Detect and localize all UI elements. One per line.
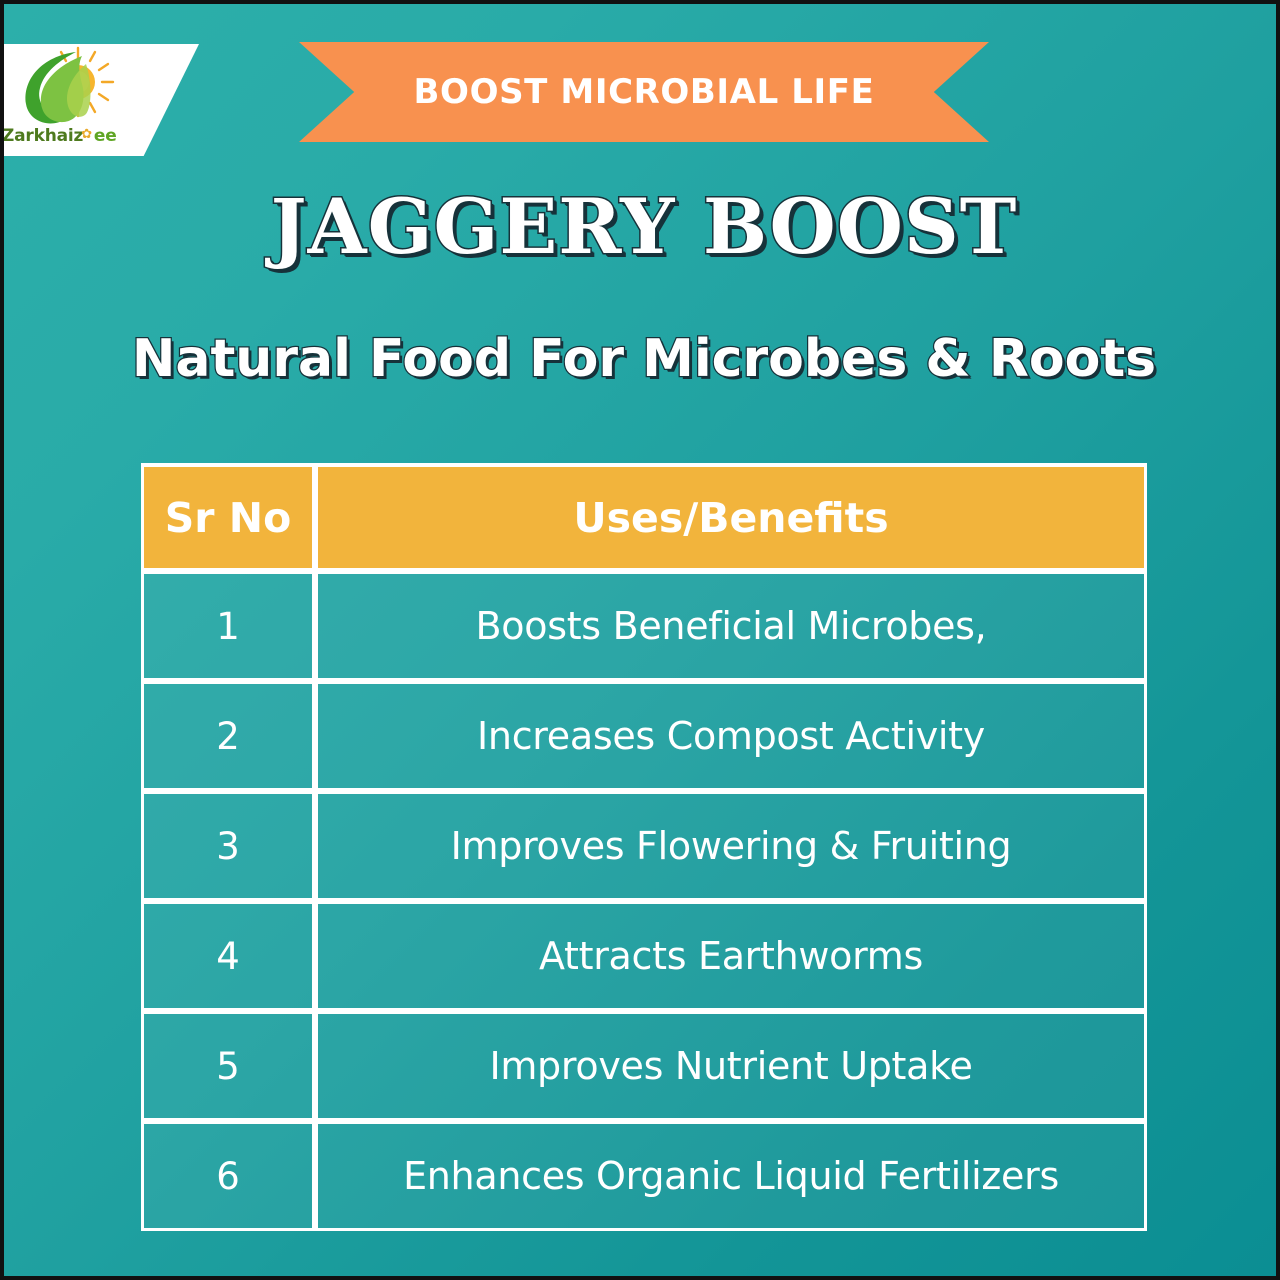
logo-banner: Zarkhaiz✿ee [0, 44, 199, 156]
logo-wordmark-part2: ee [94, 126, 117, 146]
table-row: 6 Enhances Organic Liquid Fertilizers [141, 1121, 1147, 1231]
cell-benefit: Improves Flowering & Fruiting [315, 791, 1147, 901]
table-head: Sr No Uses/Benefits [141, 463, 1147, 571]
cell-benefit: Improves Nutrient Uptake [315, 1011, 1147, 1121]
column-header-uses-benefits: Uses/Benefits [315, 463, 1147, 571]
cell-benefit: Attracts Earthworms [315, 901, 1147, 1011]
cell-sr-no: 5 [141, 1011, 315, 1121]
cell-sr-no: 2 [141, 681, 315, 791]
cell-benefit: Increases Compost Activity [315, 681, 1147, 791]
cell-benefit: Boosts Beneficial Microbes, [315, 571, 1147, 681]
logo-wordmark: Zarkhaiz✿ee [2, 126, 152, 146]
bee-icon: ✿ [81, 127, 92, 142]
table-body: 1 Boosts Beneficial Microbes, 2 Increase… [141, 571, 1147, 1231]
ribbon-label: BOOST MICROBIAL LIFE [414, 72, 875, 112]
table-row: 1 Boosts Beneficial Microbes, [141, 571, 1147, 681]
cell-benefit: Enhances Organic Liquid Fertilizers [315, 1121, 1147, 1231]
cell-sr-no: 6 [141, 1121, 315, 1231]
benefits-table: Sr No Uses/Benefits 1 Boosts Beneficial … [141, 463, 1147, 1231]
cell-sr-no: 4 [141, 901, 315, 1011]
leaf-sun-logo-icon [16, 46, 116, 128]
table-row: 2 Increases Compost Activity [141, 681, 1147, 791]
cell-sr-no: 3 [141, 791, 315, 901]
ribbon-banner: BOOST MICROBIAL LIFE [299, 42, 989, 142]
table-row: 5 Improves Nutrient Uptake [141, 1011, 1147, 1121]
page-title: JAGGERY BOOST [4, 187, 1280, 267]
cell-sr-no: 1 [141, 571, 315, 681]
column-header-sr-no: Sr No [141, 463, 315, 571]
poster-canvas: Zarkhaiz✿ee BOOST MICROBIAL LIFE JAGGERY… [0, 0, 1280, 1280]
logo-wordmark-part1: Zarkhaiz [2, 126, 83, 146]
table-row: 4 Attracts Earthworms [141, 901, 1147, 1011]
page-subtitle: Natural Food For Microbes & Roots [4, 329, 1280, 389]
table-row: 3 Improves Flowering & Fruiting [141, 791, 1147, 901]
table-header-row: Sr No Uses/Benefits [141, 463, 1147, 571]
